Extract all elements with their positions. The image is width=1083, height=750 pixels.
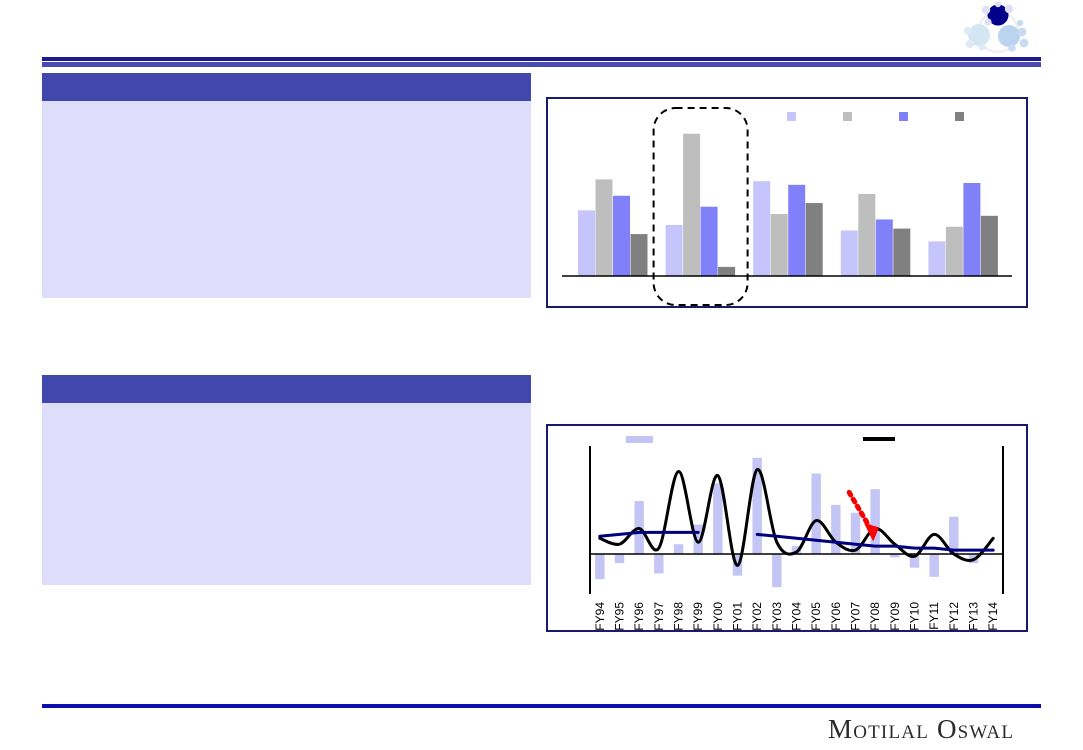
text-block-2-body	[42, 403, 531, 585]
bar-G3-series-3	[788, 185, 805, 276]
x-label-FY02: FY02	[750, 602, 764, 630]
text-block-1	[42, 73, 531, 298]
text-block-2	[42, 375, 531, 585]
logo-svg	[962, 2, 1034, 54]
cycle-bar-FY11	[929, 554, 938, 577]
bar-G2-series-1	[666, 225, 683, 276]
cycle-bar-FY95	[615, 554, 624, 563]
bar-chart-bars	[578, 134, 998, 276]
bar-G4-series-1	[841, 230, 858, 276]
x-label-FY96: FY96	[632, 602, 646, 630]
cycle-bar-FY06	[831, 505, 840, 554]
cycle-chart-trend-line-1	[600, 532, 698, 536]
slide-root: FY94FY95FY96FY97FY98FY99FY00FY01FY02FY03…	[0, 0, 1083, 750]
text-block-1-heading	[42, 73, 531, 101]
bar-chart-legend	[787, 112, 964, 121]
bar-series-swatch	[626, 436, 653, 443]
bar-G2-series-4	[718, 267, 735, 276]
text-block-2-heading	[42, 375, 531, 403]
bar-G5-series-4	[981, 216, 998, 276]
series-1-swatch	[787, 112, 796, 121]
bar-G3-series-2	[771, 214, 788, 276]
x-label-FY08: FY08	[868, 602, 882, 630]
series-4-swatch	[955, 112, 964, 121]
cycle-bar-FY00	[713, 483, 722, 554]
bar-G5-series-1	[928, 241, 945, 276]
x-label-FY11: FY11	[927, 602, 941, 630]
brand-wordmark: Motilal Oswal	[828, 714, 1014, 745]
header-rule-bottom	[42, 62, 1041, 67]
cycle-chart-bars	[595, 458, 978, 587]
bar-G4-series-2	[858, 194, 875, 276]
cycle-chart-x-axis-labels: FY94FY95FY96FY97FY98FY99FY00FY01FY02FY03…	[593, 602, 1000, 630]
cycle-bar-FY94	[595, 554, 604, 579]
x-label-FY95: FY95	[613, 602, 627, 630]
bar-G1-series-1	[578, 210, 595, 276]
cycle-bar-FY98	[674, 544, 683, 554]
bar-G1-series-2	[596, 179, 613, 276]
cycle-chart-black-line	[600, 469, 993, 565]
grouped-bar-chart-svg	[548, 99, 1026, 306]
x-label-FY04: FY04	[790, 602, 804, 630]
bar-G2-series-2	[683, 134, 700, 276]
x-label-FY12: FY12	[947, 602, 961, 630]
bar-G5-series-2	[946, 227, 963, 276]
cycle-bar-FY03	[772, 554, 781, 587]
series-3-swatch	[899, 112, 908, 121]
header-rule-top	[42, 57, 1041, 61]
footer-rule	[42, 704, 1041, 708]
cycle-chart-legend	[626, 436, 895, 443]
series-2-swatch	[843, 112, 852, 121]
bar-G2-series-3	[701, 207, 718, 276]
x-label-FY94: FY94	[593, 602, 607, 630]
bar-G4-series-4	[893, 229, 910, 276]
motilal-oswal-bubble-logo	[962, 2, 1034, 54]
x-label-FY05: FY05	[809, 602, 823, 630]
x-label-FY01: FY01	[731, 602, 745, 630]
text-block-1-body	[42, 101, 531, 298]
bar-G4-series-3	[876, 219, 893, 276]
grouped-bar-chart-panel	[546, 97, 1028, 308]
x-label-FY97: FY97	[652, 602, 666, 630]
bar-G3-series-4	[806, 203, 823, 276]
bar-G1-series-3	[613, 196, 630, 276]
bar-G3-series-1	[753, 181, 770, 276]
x-label-FY07: FY07	[849, 602, 863, 630]
cycle-bar-FY97	[654, 554, 663, 573]
x-label-FY99: FY99	[691, 602, 705, 630]
x-label-FY14: FY14	[986, 602, 1000, 630]
x-label-FY00: FY00	[711, 602, 725, 630]
x-label-FY09: FY09	[888, 602, 902, 630]
x-label-FY03: FY03	[770, 602, 784, 630]
cycle-chart-panel: FY94FY95FY96FY97FY98FY99FY00FY01FY02FY03…	[546, 424, 1028, 632]
cycle-chart-svg: FY94FY95FY96FY97FY98FY99FY00FY01FY02FY03…	[548, 426, 1026, 630]
x-label-FY10: FY10	[908, 602, 922, 630]
bar-G1-series-4	[631, 234, 648, 276]
x-label-FY06: FY06	[829, 602, 843, 630]
x-label-FY13: FY13	[967, 602, 981, 630]
bar-G5-series-3	[963, 183, 980, 276]
x-label-FY98: FY98	[672, 602, 686, 630]
